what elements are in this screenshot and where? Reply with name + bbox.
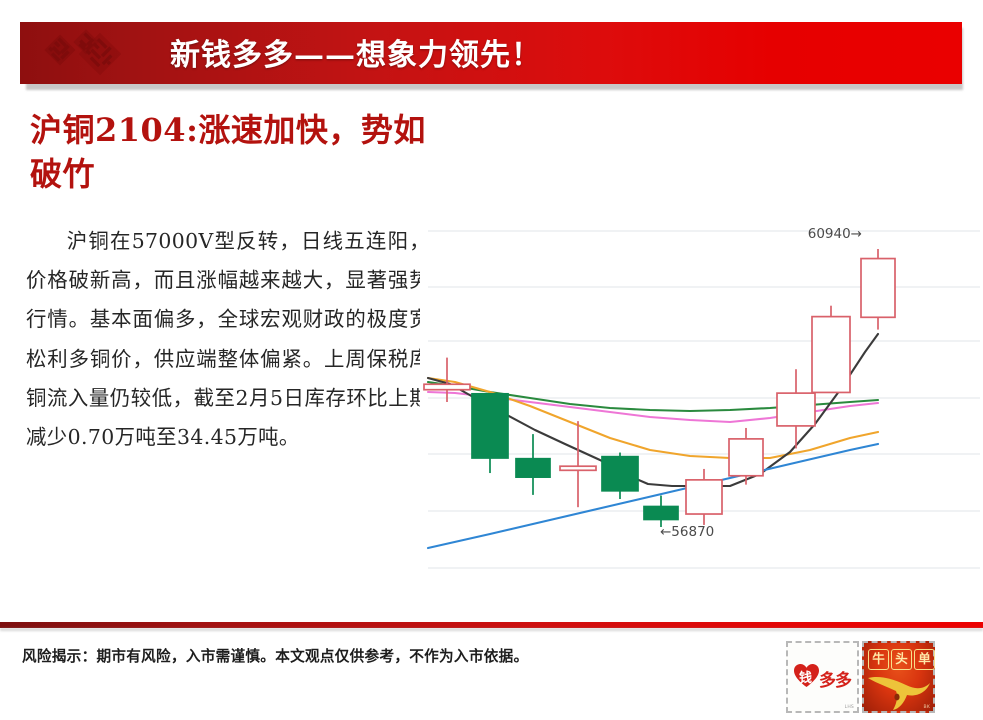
stamp-char-3: 单 [914, 649, 935, 670]
slide-root: 新钱多多——想象力领先！ 沪铜2104:涨速加快，势如破竹 沪铜在57000V型… [0, 0, 983, 720]
bull-head-icon [866, 669, 932, 711]
page-title: 沪铜2104:涨速加快，势如破竹 [30, 108, 430, 196]
candlestick-chart: 60940→←56870 [420, 196, 980, 588]
chart-svg: 60940→←56870 [420, 196, 980, 588]
article-body: 沪铜在57000V型反转，日线五连阳，价格破新高，而且涨幅越来越大，显著强势行情… [26, 222, 430, 457]
diamond-knot-logo-icon [34, 24, 146, 82]
stamp-corner-mark: LHS [845, 705, 854, 710]
low-label: ←56870 [660, 524, 714, 540]
stamp-corner-mark: BK [924, 705, 930, 710]
stamp-char-2: 头 [891, 649, 912, 670]
stamp-char-1: 牛 [868, 649, 889, 670]
header-title: 新钱多多——想象力领先！ [170, 30, 542, 74]
high-label: 60940→ [808, 226, 862, 242]
niutoudan-stamp: 牛 头 单 BK [862, 641, 935, 713]
candle [812, 306, 850, 393]
candle [861, 249, 895, 330]
stamp-char-row: 牛 头 单 [868, 649, 935, 670]
footer-divider-shadow [0, 628, 983, 631]
footer-stamps: 钱 多多 LHS 牛 头 单 BK [786, 641, 938, 713]
risk-disclaimer: 风险揭示：期市有风险，入市需谨慎。本文观点仅供参考，不作为入市依据。 [22, 645, 722, 666]
header-banner: 新钱多多——想象力领先！ [20, 22, 962, 84]
stamp-brand-text: 多多 [819, 666, 851, 691]
stamp-heart-char: 钱 [799, 667, 812, 686]
qiandoduo-stamp: 钱 多多 LHS [786, 641, 859, 713]
